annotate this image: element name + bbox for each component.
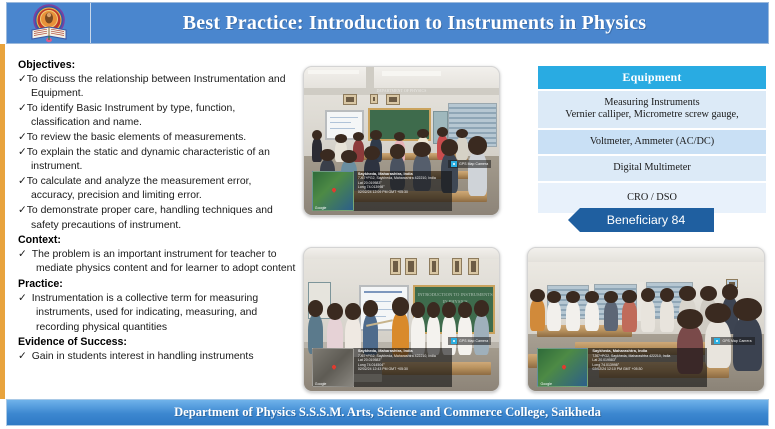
equipment-table-header: Equipment	[538, 66, 766, 91]
college-emblem-icon	[28, 3, 70, 43]
practice-text: Instrumentation is a collective term for…	[32, 293, 258, 333]
objective-text: To identify Basic Instrument by type, fu…	[27, 103, 236, 129]
equipment-row-line-1: Measuring Instruments	[542, 97, 762, 110]
objective-item: ✓To discuss the relationship between Ins…	[18, 73, 296, 102]
gps-line-5: 02/02/24 12:43 PM GMT +05:30	[358, 367, 452, 372]
check-icon: ✓	[18, 74, 27, 85]
slide-header: Best Practice: Introduction to Instrumen…	[6, 2, 769, 44]
objective-item: ✓To calculate and analyze the measuremen…	[18, 175, 296, 204]
gps-badge-label: GPS Map Camera	[459, 339, 488, 343]
objective-text: To discuss the relationship between Inst…	[27, 74, 286, 100]
gps-text: Saykheda, Maharashtra, India 7J67+PG2, S…	[354, 348, 452, 387]
gps-map-camera-badge: GPS Map Camera	[448, 160, 491, 168]
check-icon: ✓	[18, 205, 27, 216]
footer-text: Department of Physics S.S.S.M. Arts, Sci…	[174, 405, 601, 420]
map-pin-icon	[331, 187, 337, 193]
gps-overlay: Google Saykheda, Maharashtra, India 7J67…	[537, 348, 707, 387]
google-watermark: Google	[315, 382, 327, 386]
objectives-heading: Objectives:	[18, 58, 296, 73]
context-item: ✓The problem is an important instrument …	[18, 248, 296, 277]
gps-badge-label: GPS Map Camera	[459, 162, 488, 166]
gps-camera-icon	[451, 161, 457, 167]
map-pin-icon	[561, 364, 567, 370]
presentation-slide: Best Practice: Introduction to Instrumen…	[0, 0, 775, 429]
gps-map-camera-badge: GPS Map Camera	[711, 337, 754, 345]
left-accent-bar	[0, 44, 5, 399]
objective-text: To explain the static and dynamic charac…	[27, 147, 270, 173]
evidence-heading: Evidence of Success:	[18, 335, 296, 350]
gps-map-thumbnail: Google	[312, 171, 354, 211]
evidence-item: ✓Gain in students interest in handling i…	[18, 350, 296, 365]
evidence-text: Gain in students interest in handling in…	[32, 351, 254, 362]
practice-heading: Practice:	[18, 277, 296, 292]
check-icon: ✓	[18, 176, 27, 187]
gps-badge-label: GPS Map Camera	[722, 339, 751, 343]
title-container: Best Practice: Introduction to Instrumen…	[91, 12, 768, 35]
objective-item: ✓To identify Basic Instrument by type, f…	[18, 102, 296, 131]
objective-item: ✓To explain the static and dynamic chara…	[18, 146, 296, 175]
gps-map-thumbnail: Google	[537, 348, 588, 387]
content-text-column: Objectives: ✓To discuss the relationship…	[18, 58, 296, 364]
objective-text: To review the basic elements of measurem…	[27, 132, 246, 143]
gps-text: Saykheda, Maharashtra, India 7J67+PG2, S…	[588, 348, 707, 387]
beneficiary-banner: Beneficiary 84	[568, 208, 714, 232]
check-icon: ✓	[18, 351, 27, 362]
objective-text: To calculate and analyze the measurement…	[27, 176, 252, 202]
gps-line-5: 02/02/24 12:09 PM GMT +05:30	[358, 190, 452, 195]
map-pin-icon	[331, 364, 337, 370]
classroom-seminar-photo: DEPARTMENT OF PHYSICS	[303, 66, 500, 216]
practice-item: ✓Instrumentation is a collective term fo…	[18, 292, 296, 336]
equipment-table-row: Voltmeter, Ammeter (AC/DC)	[538, 130, 766, 157]
gps-map-camera-badge: GPS Map Camera	[448, 337, 491, 345]
check-icon: ✓	[18, 132, 27, 143]
gps-text: Saykheda, Maharashtra, India 7J67+PG2, S…	[354, 171, 452, 211]
equipment-table-row: Digital Multimeter	[538, 156, 766, 183]
objective-text: To demonstrate proper care, handling tec…	[27, 205, 273, 231]
equipment-row-line-2: Vernier calliper, Micrometre screw gauge…	[542, 109, 762, 122]
slide-footer: Department of Physics S.S.S.M. Arts, Sci…	[6, 399, 769, 426]
logo-container	[7, 3, 91, 43]
gps-map-thumbnail: Google	[312, 348, 354, 387]
check-icon: ✓	[18, 293, 27, 304]
gps-overlay: Google Saykheda, Maharashtra, India 7J67…	[312, 348, 452, 387]
check-icon: ✓	[18, 249, 27, 260]
objective-item: ✓To demonstrate proper care, handling te…	[18, 204, 296, 233]
context-heading: Context:	[18, 233, 296, 248]
gps-overlay: Google Saykheda, Maharashtra, India 7J67…	[312, 171, 452, 211]
gps-camera-icon	[451, 338, 457, 344]
check-icon: ✓	[18, 147, 27, 158]
students-audience-photo: GPS Map Camera Google Saykheda, Maharash…	[527, 247, 765, 392]
google-watermark: Google	[315, 206, 327, 210]
check-icon: ✓	[18, 103, 27, 114]
equipment-table: Equipment Measuring Instruments Vernier …	[538, 66, 766, 215]
gps-line-5: 02/02/24 12:10 PM GMT +05:30	[592, 367, 707, 372]
chalkboard-presentation-photo: INTRODUCTION TO INSTRUMENTS IN PHYSICS	[303, 247, 500, 392]
beneficiary-label: Beneficiary 84	[607, 213, 686, 227]
equipment-table-row: Measuring Instruments Vernier calliper, …	[538, 91, 766, 130]
gps-camera-icon	[714, 338, 720, 344]
page-title: Best Practice: Introduction to Instrumen…	[183, 12, 647, 34]
objective-item: ✓To review the basic elements of measure…	[18, 131, 296, 146]
context-text: The problem is an important instrument f…	[32, 249, 296, 275]
google-watermark: Google	[540, 382, 552, 386]
